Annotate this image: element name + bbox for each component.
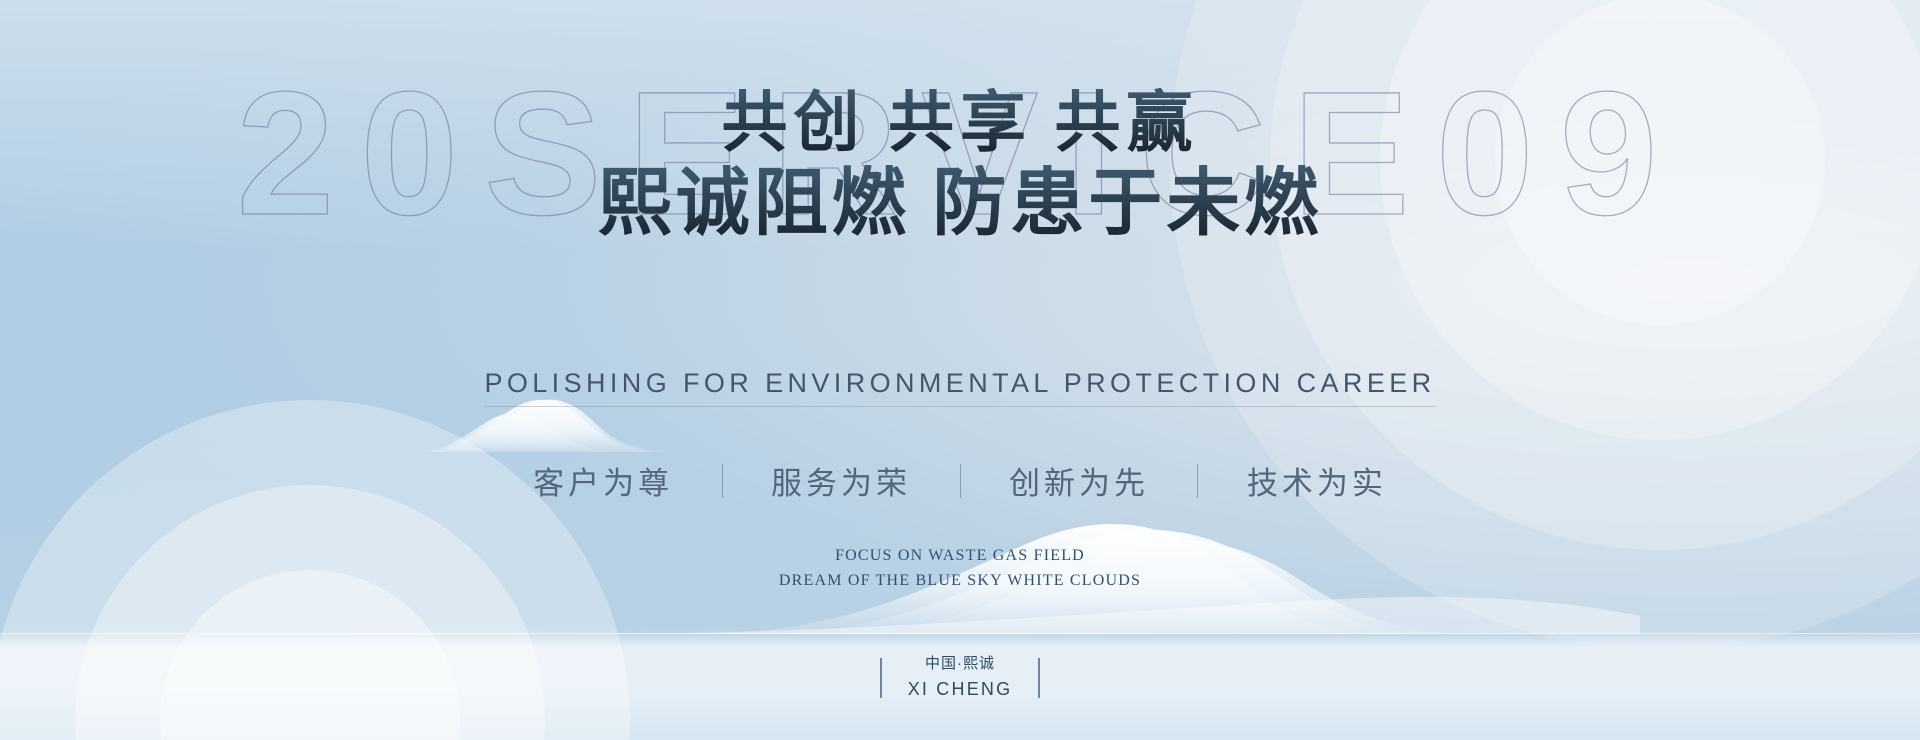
slogan-item-3: 创新为先 bbox=[1009, 458, 1149, 503]
english-subtitle: POLISHING FOR ENVIRONMENTAL PROTECTION C… bbox=[0, 368, 1920, 407]
logo-text-en: XI CHENG bbox=[908, 676, 1013, 702]
slogan-item-4: 技术为实 bbox=[1247, 458, 1387, 503]
headline-line-2: 熙诚阻燃 防患于未燃 bbox=[0, 165, 1920, 245]
logo-rule-left bbox=[880, 658, 882, 698]
slogan-separator-1 bbox=[722, 464, 723, 498]
headline-block: 共创 共享 共赢 熙诚阻燃 防患于未燃 bbox=[0, 88, 1920, 245]
logo-rule-right bbox=[1038, 658, 1040, 698]
slogan-item-1: 客户为尊 bbox=[533, 458, 673, 503]
logo-text: 中国·熙诚 XI CHENG bbox=[908, 653, 1013, 702]
slogan-row: 客户为尊 服务为荣 创新为先 技术为实 bbox=[0, 458, 1920, 503]
mini-tagline-line-1: FOCUS ON WASTE GAS FIELD bbox=[0, 544, 1920, 569]
slogan-separator-2 bbox=[960, 464, 961, 498]
brand-logo: 中国·熙诚 XI CHENG bbox=[0, 653, 1920, 702]
logo-text-cn: 中国·熙诚 bbox=[908, 653, 1013, 676]
headline-line-1: 共创 共享 共赢 bbox=[0, 88, 1920, 159]
english-subtitle-text: POLISHING FOR ENVIRONMENTAL PROTECTION C… bbox=[484, 368, 1435, 407]
mini-tagline-block: FOCUS ON WASTE GAS FIELD DREAM OF THE BL… bbox=[0, 544, 1920, 594]
mini-tagline-line-2: DREAM OF THE BLUE SKY WHITE CLOUDS bbox=[0, 569, 1920, 594]
promo-banner: 20SERVICE09 bbox=[0, 0, 1920, 740]
slogan-separator-3 bbox=[1197, 464, 1198, 498]
slogan-item-2: 服务为荣 bbox=[771, 458, 911, 503]
